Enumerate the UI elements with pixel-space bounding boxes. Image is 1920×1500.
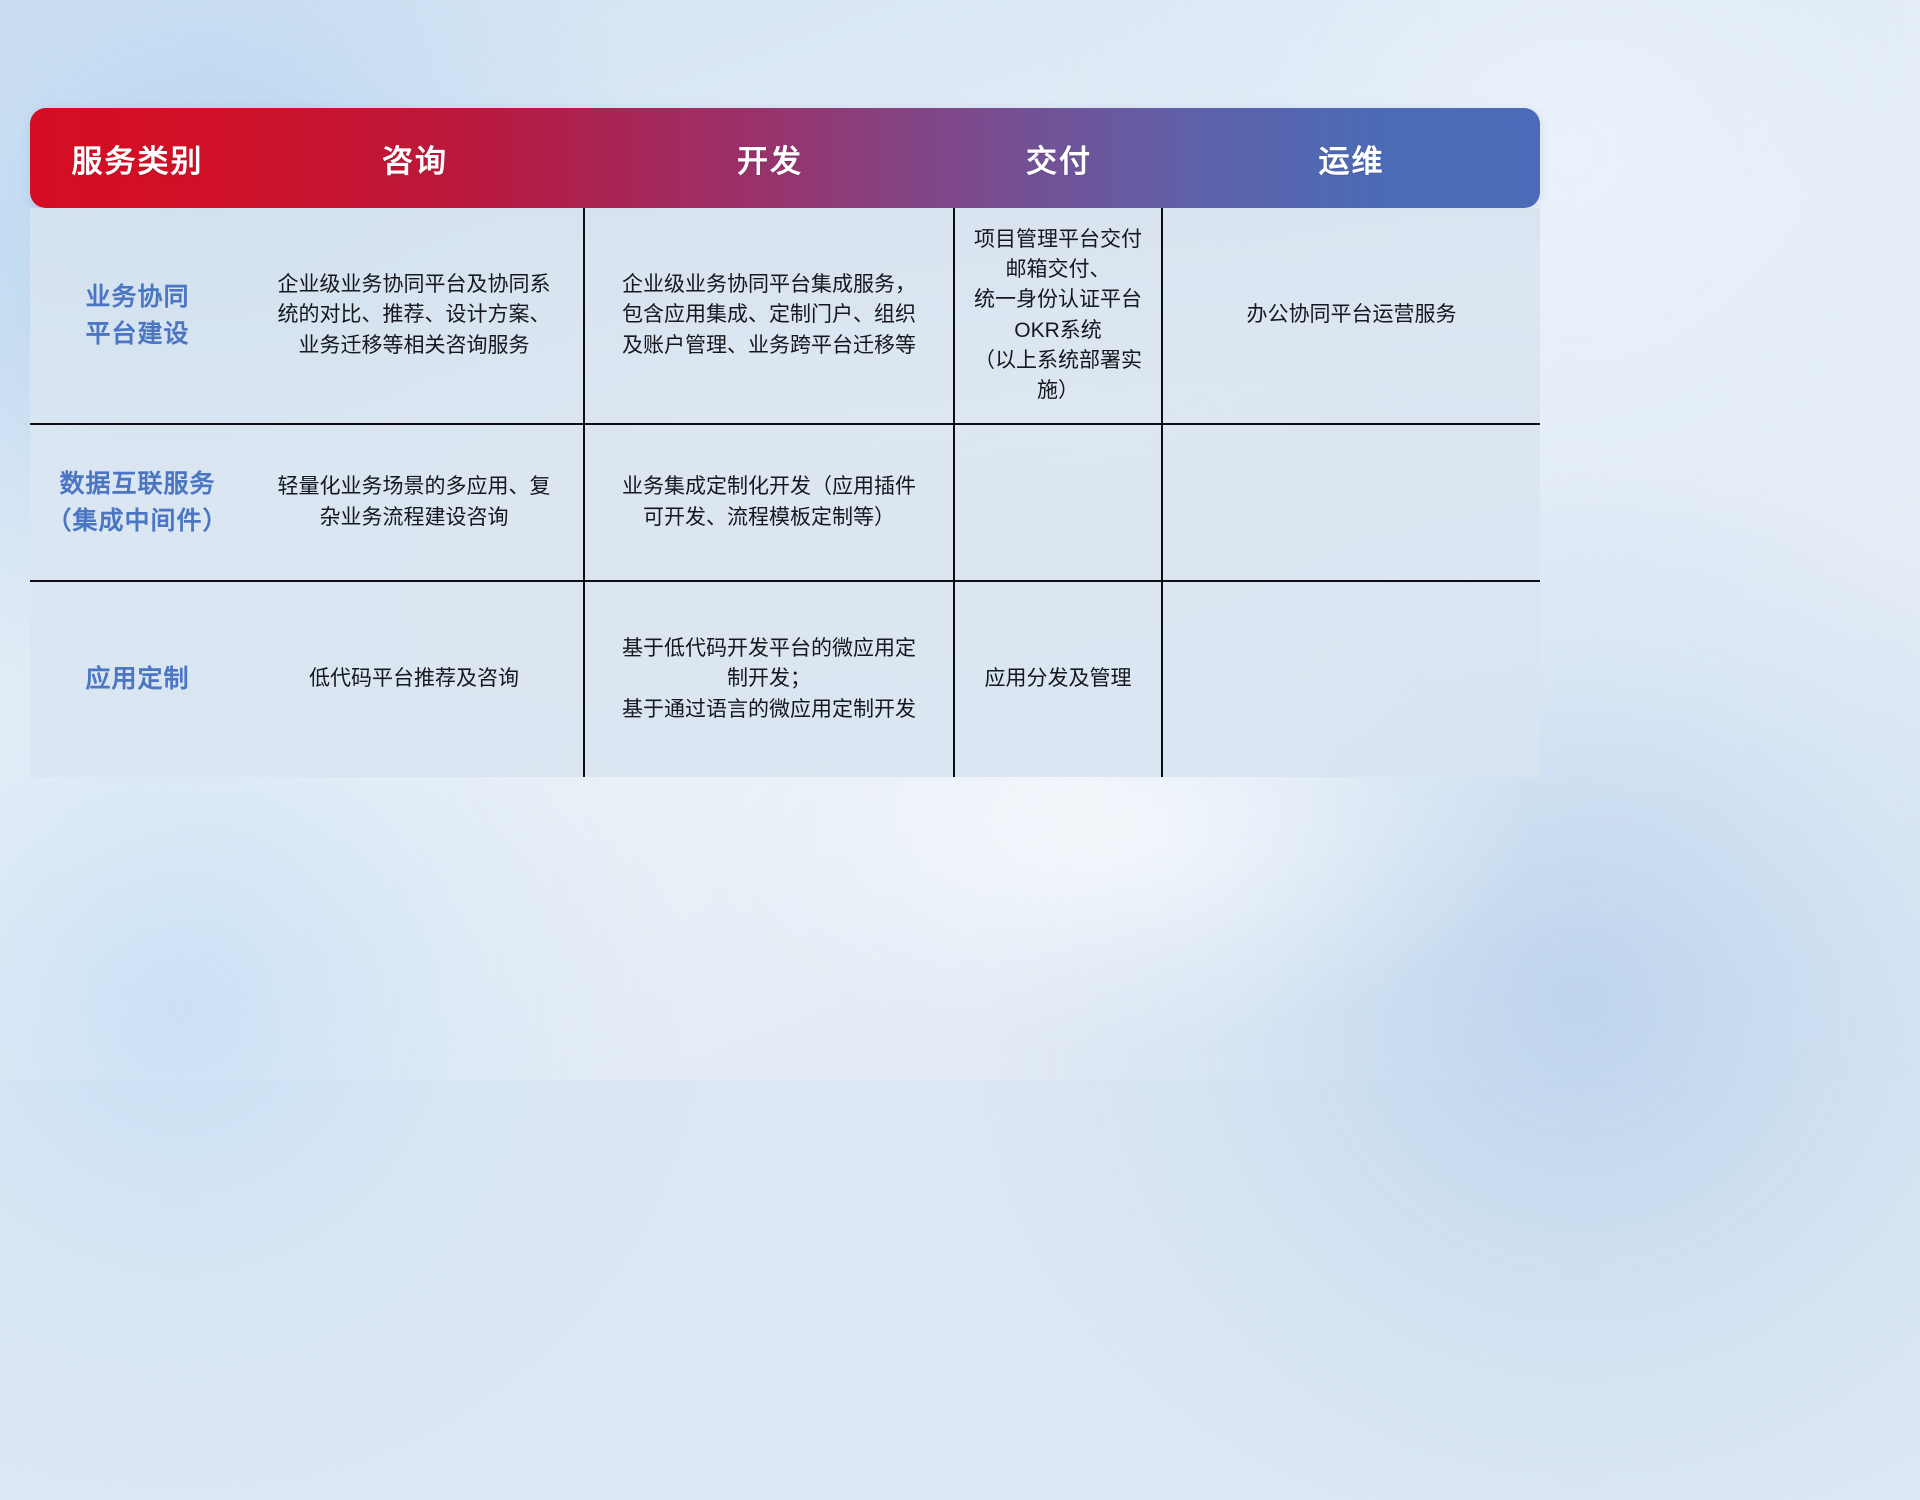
service-matrix-table: 服务类别 咨询 开发 交付 运维 业务协同 平台建设 企业级业务协同平台及协同系…	[30, 108, 1540, 777]
cell-row1-operations	[1163, 425, 1540, 580]
column-header-consulting: 咨询	[245, 108, 585, 208]
table-header-row: 服务类别 咨询 开发 交付 运维	[30, 108, 1540, 208]
column-header-operations: 运维	[1163, 108, 1540, 208]
column-header-development: 开发	[585, 108, 955, 208]
cell-row2-delivery: 应用分发及管理	[955, 582, 1163, 777]
cell-row2-development: 基于低代码开发平台的微应用定 制开发； 基于通过语言的微应用定制开发	[585, 582, 955, 777]
cell-row2-consulting: 低代码平台推荐及咨询	[245, 582, 585, 777]
cell-row1-delivery	[955, 425, 1163, 580]
row-label-business-collaboration-platform: 业务协同 平台建设	[30, 208, 245, 423]
cell-row2-operations	[1163, 582, 1540, 777]
row-label-data-interconnect-service: 数据互联服务 （集成中间件）	[30, 425, 245, 580]
table-row: 数据互联服务 （集成中间件） 轻量化业务场景的多应用、复 杂业务流程建设咨询 业…	[30, 425, 1540, 582]
cell-row0-operations: 办公协同平台运营服务	[1163, 208, 1540, 423]
table-row: 应用定制 低代码平台推荐及咨询 基于低代码开发平台的微应用定 制开发； 基于通过…	[30, 582, 1540, 777]
column-header-delivery: 交付	[955, 108, 1163, 208]
cell-row0-development: 企业级业务协同平台集成服务， 包含应用集成、定制门户、组织 及账户管理、业务跨平…	[585, 208, 955, 423]
cell-row0-consulting: 企业级业务协同平台及协同系 统的对比、推荐、设计方案、 业务迁移等相关咨询服务	[245, 208, 585, 423]
table-row: 业务协同 平台建设 企业级业务协同平台及协同系 统的对比、推荐、设计方案、 业务…	[30, 208, 1540, 425]
cell-row1-consulting: 轻量化业务场景的多应用、复 杂业务流程建设咨询	[245, 425, 585, 580]
cell-row0-delivery: 项目管理平台交付 邮箱交付、 统一身份认证平台 OKR系统 （以上系统部署实施）	[955, 208, 1163, 423]
table-body: 业务协同 平台建设 企业级业务协同平台及协同系 统的对比、推荐、设计方案、 业务…	[30, 208, 1540, 777]
cell-row1-development: 业务集成定制化开发（应用插件 可开发、流程模板定制等）	[585, 425, 955, 580]
column-header-service-category: 服务类别	[30, 108, 245, 208]
row-label-application-customization: 应用定制	[30, 582, 245, 777]
